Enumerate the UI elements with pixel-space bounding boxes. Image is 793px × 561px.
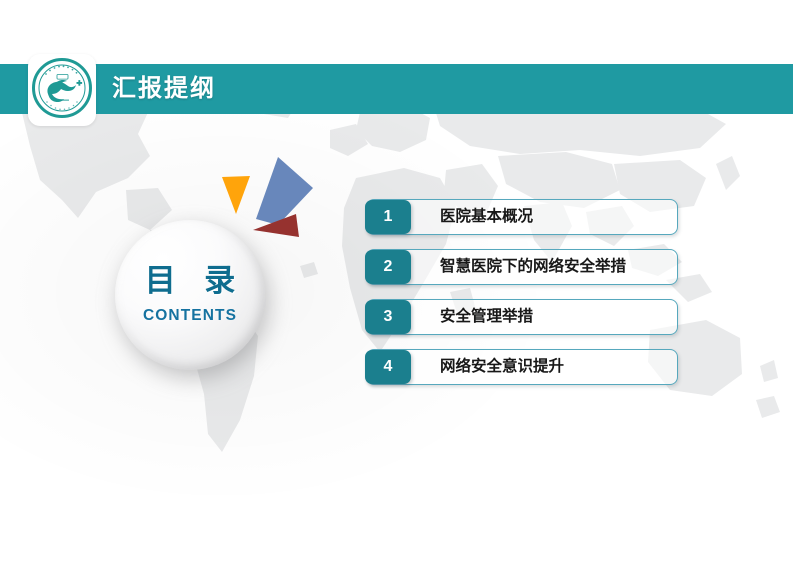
orange-triangle: [222, 176, 250, 214]
menu-item-label: 医院基本概况: [440, 199, 533, 235]
menu-item-number-badge: 1: [365, 200, 411, 234]
menu-item-number: 3: [384, 308, 393, 326]
menu-item-number: 1: [384, 208, 393, 226]
contents-circle-subtitle: CONTENTS: [143, 307, 237, 325]
menu-item-number-badge: 3: [365, 300, 411, 334]
menu-item-number-badge: 4: [365, 350, 411, 384]
decorative-triangles: [200, 145, 340, 255]
menu-item-number: 4: [384, 358, 393, 376]
menu-item-number: 2: [384, 258, 393, 276]
menu-item-label: 智慧医院下的网络安全举措: [440, 249, 626, 285]
contents-menu-list: 1 医院基本概况 2 智慧医院下的网络安全举措 3 安全管理举措 4 网络安全意…: [366, 199, 678, 399]
list-item[interactable]: 2 智慧医院下的网络安全举措: [366, 249, 678, 285]
blue-triangle: [256, 157, 313, 225]
list-item[interactable]: 3 安全管理举措: [366, 299, 678, 335]
list-item[interactable]: 4 网络安全意识提升: [366, 349, 678, 385]
list-item[interactable]: 1 医院基本概况: [366, 199, 678, 235]
menu-item-label: 安全管理举措: [440, 299, 533, 335]
contents-circle-title: 目 录: [135, 265, 246, 298]
page-title: 汇报提纲: [112, 64, 216, 114]
presentation-slide: 汇报提纲: [0, 0, 793, 561]
menu-item-number-badge: 2: [365, 250, 411, 284]
hospital-dove-emblem-logo: [32, 58, 92, 118]
menu-item-label: 网络安全意识提升: [440, 349, 564, 385]
